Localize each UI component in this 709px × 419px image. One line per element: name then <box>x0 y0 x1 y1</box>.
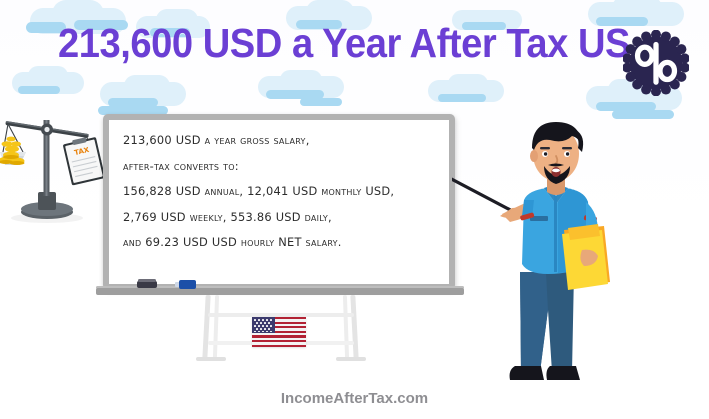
whiteboard-line: 213,600 USD a year gross salary, <box>123 128 439 154</box>
stand-foot-right <box>336 357 366 361</box>
whiteboard-line: and 69.23 USD USD hourly NET salary. <box>123 230 439 256</box>
teacher-character-icon <box>452 104 652 390</box>
infographic-canvas: 213,600 USD a Year After Tax US <box>0 0 709 419</box>
title-area: 213,600 USD a Year After Tax US <box>0 18 709 72</box>
whiteboard-tray <box>96 288 464 295</box>
balance-scale-icon: TAX <box>0 108 110 226</box>
eraser-top <box>138 279 156 282</box>
whiteboard-surface: 213,600 USD a year gross salary, after-t… <box>109 120 449 284</box>
whiteboard-line: 156,828 USD annual, 12,041 USD monthly U… <box>123 179 439 205</box>
page-title: 213,600 USD a Year After Tax US <box>58 18 630 68</box>
eraser-icon <box>137 281 157 288</box>
marker-icon <box>179 280 196 289</box>
whiteboard: 213,600 USD a year gross salary, after-t… <box>103 114 455 290</box>
whiteboard-line: 2,769 USD weekly, 553.86 USD daily, <box>123 205 439 231</box>
site-footer: IncomeAfterTax.com <box>0 390 709 407</box>
percent-badge-icon <box>623 30 689 96</box>
us-flag-icon <box>252 317 306 347</box>
whiteboard-text: 213,600 USD a year gross salary, after-t… <box>123 128 439 256</box>
whiteboard-line: after-tax converts to: <box>123 154 439 180</box>
stand-foot-left <box>196 357 226 361</box>
